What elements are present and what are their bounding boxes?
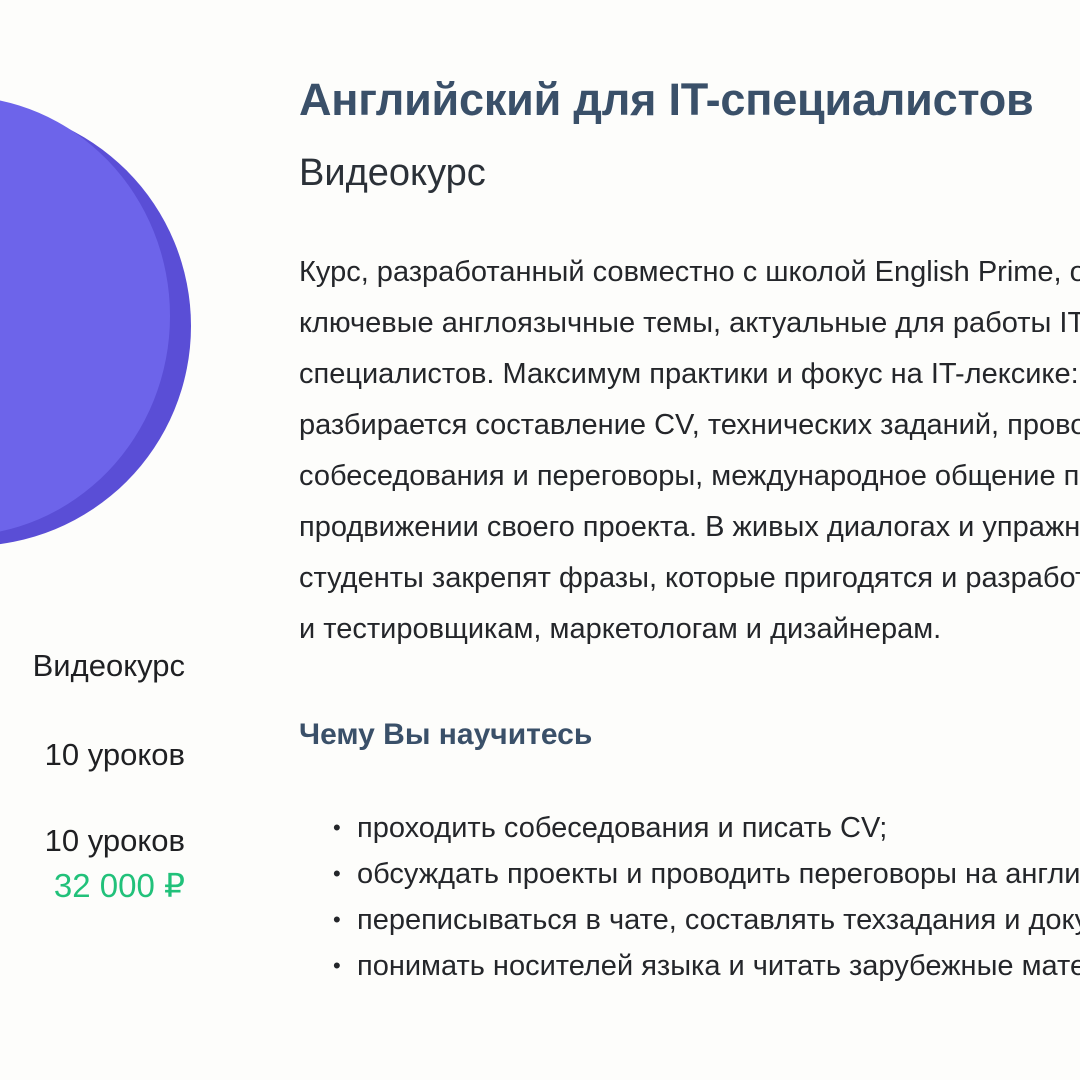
course-circle-graphic xyxy=(0,96,215,566)
course-landing-page: Видеокурс 10 уроков 10 уроков 32 000 ₽ В… xyxy=(0,0,1080,1080)
bullet-icon: • xyxy=(333,897,341,943)
course-subtitle: Видеокурс xyxy=(299,152,486,195)
page-title: Английский для IT-специалистов xyxy=(299,74,1033,126)
list-item: •обсуждать проекты и проводить переговор… xyxy=(333,851,1080,897)
list-item-label: проходить собеседования и писать CV; xyxy=(357,812,887,844)
list-item-label: переписываться в чате, составлять техзад… xyxy=(357,904,1080,936)
list-item: •понимать носителей языка и читать заруб… xyxy=(333,943,1080,989)
list-item-label: понимать носителей языка и читать зарубе… xyxy=(357,950,1080,982)
meta-format: Видеокурс xyxy=(0,645,185,687)
circle-disc-shape xyxy=(0,96,170,536)
learn-outcomes-list: •проходить собеседования и писать CV;•об… xyxy=(333,805,1080,989)
course-meta-list: Видеокурс 10 уроков 10 уроков 32 000 ₽ xyxy=(0,645,185,908)
meta-duration: 10 уроков xyxy=(0,820,185,862)
course-main-content: Английский для IT-специалистов Видеокурс… xyxy=(299,0,1080,1080)
course-description: Курс, разработанный совместно с школой E… xyxy=(299,247,1080,655)
course-sidebar: Видеокурс 10 уроков 10 уроков 32 000 ₽ В… xyxy=(0,0,185,1080)
list-item: •проходить собеседования и писать CV; xyxy=(333,805,1080,851)
list-item: •переписываться в чате, составлять техза… xyxy=(333,897,1080,943)
learn-outcomes-heading: Чему Вы научитесь xyxy=(299,718,592,752)
bullet-icon: • xyxy=(333,943,341,989)
list-item-label: обсуждать проекты и проводить переговоры… xyxy=(357,858,1080,890)
meta-lessons-count: 10 уроков xyxy=(0,734,185,776)
course-price: 32 000 ₽ xyxy=(0,864,185,908)
bullet-icon: • xyxy=(333,805,341,851)
bullet-icon: • xyxy=(333,851,341,897)
